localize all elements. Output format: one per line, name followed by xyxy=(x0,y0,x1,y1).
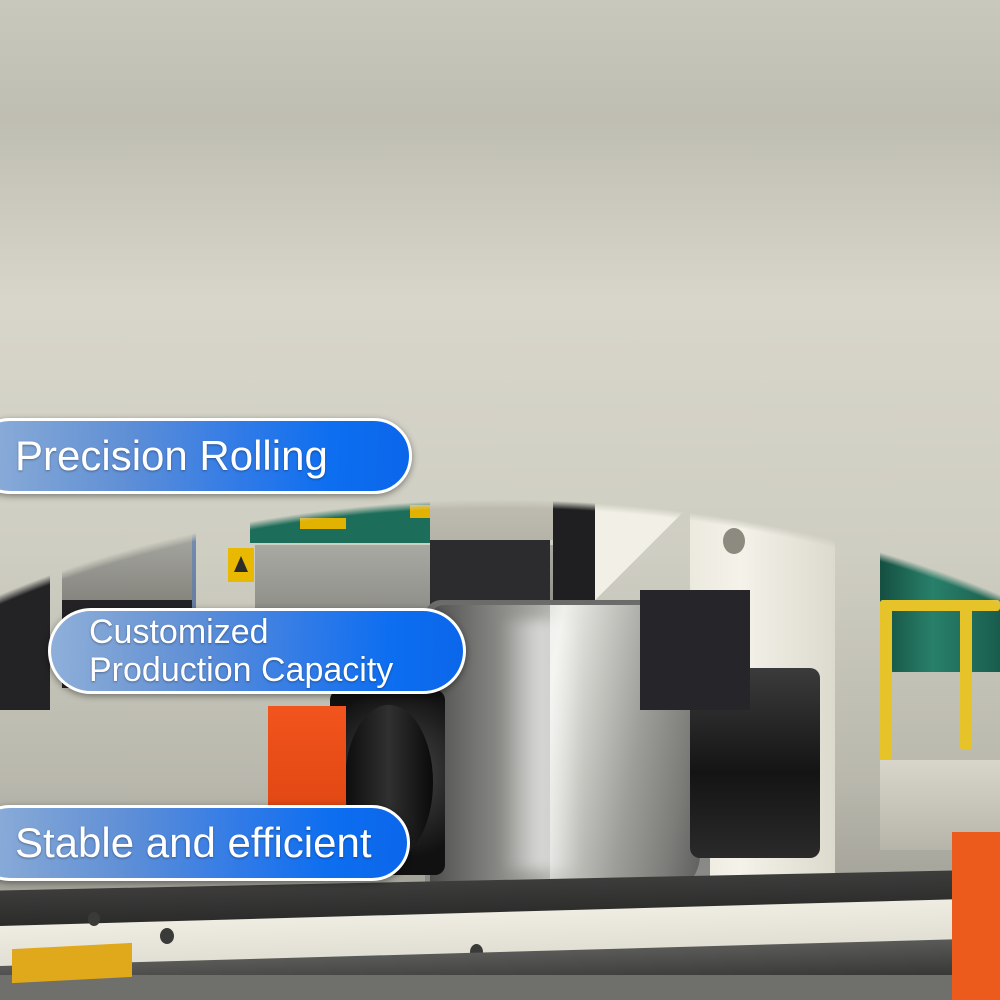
yellow-floor-pad xyxy=(12,943,132,983)
green-pipe xyxy=(905,330,1000,340)
badge-label: Precision Rolling xyxy=(15,432,328,480)
yellow-handrail xyxy=(880,600,1000,611)
drive-motor xyxy=(745,330,840,400)
coil-highlight xyxy=(500,620,580,870)
orange-machine-block xyxy=(268,706,346,816)
factory-floor xyxy=(0,975,1000,1000)
grey-panel xyxy=(62,530,192,600)
badge-stable-and-efficient[interactable]: Stable and efficient xyxy=(0,805,410,881)
roller-shaft xyxy=(345,348,750,374)
green-pipe xyxy=(770,286,1000,293)
yellow-handrail xyxy=(960,600,972,750)
badge-label-line-1: Customized xyxy=(89,613,393,651)
green-pressure-tank xyxy=(880,392,1000,672)
flywheel xyxy=(828,333,880,395)
grey-wall-panel xyxy=(430,420,560,540)
orange-edge-strip xyxy=(952,832,1000,1000)
frame-bolt-hole xyxy=(723,528,745,554)
badge-customized-production-capacity[interactable]: Customized Production Capacity xyxy=(48,608,466,694)
mill-frame-top xyxy=(0,213,590,451)
dark-cabinet xyxy=(0,560,50,710)
sensor-box xyxy=(640,590,750,710)
base-bolt xyxy=(160,928,174,944)
base-bolt xyxy=(88,912,100,926)
badge-label-line-2: Production Capacity xyxy=(89,651,393,689)
warning-label-icon xyxy=(228,548,254,582)
dark-column xyxy=(553,430,595,620)
yellow-guard-bar xyxy=(300,518,346,529)
badge-precision-rolling[interactable]: Precision Rolling xyxy=(0,418,412,494)
blue-gantry-beam xyxy=(0,505,200,527)
badge-label: Stable and efficient xyxy=(15,819,372,867)
product-banner: 20-HIGH-MILL Precision Rolling Customize… xyxy=(0,0,1000,1000)
motor-cap xyxy=(760,315,812,337)
